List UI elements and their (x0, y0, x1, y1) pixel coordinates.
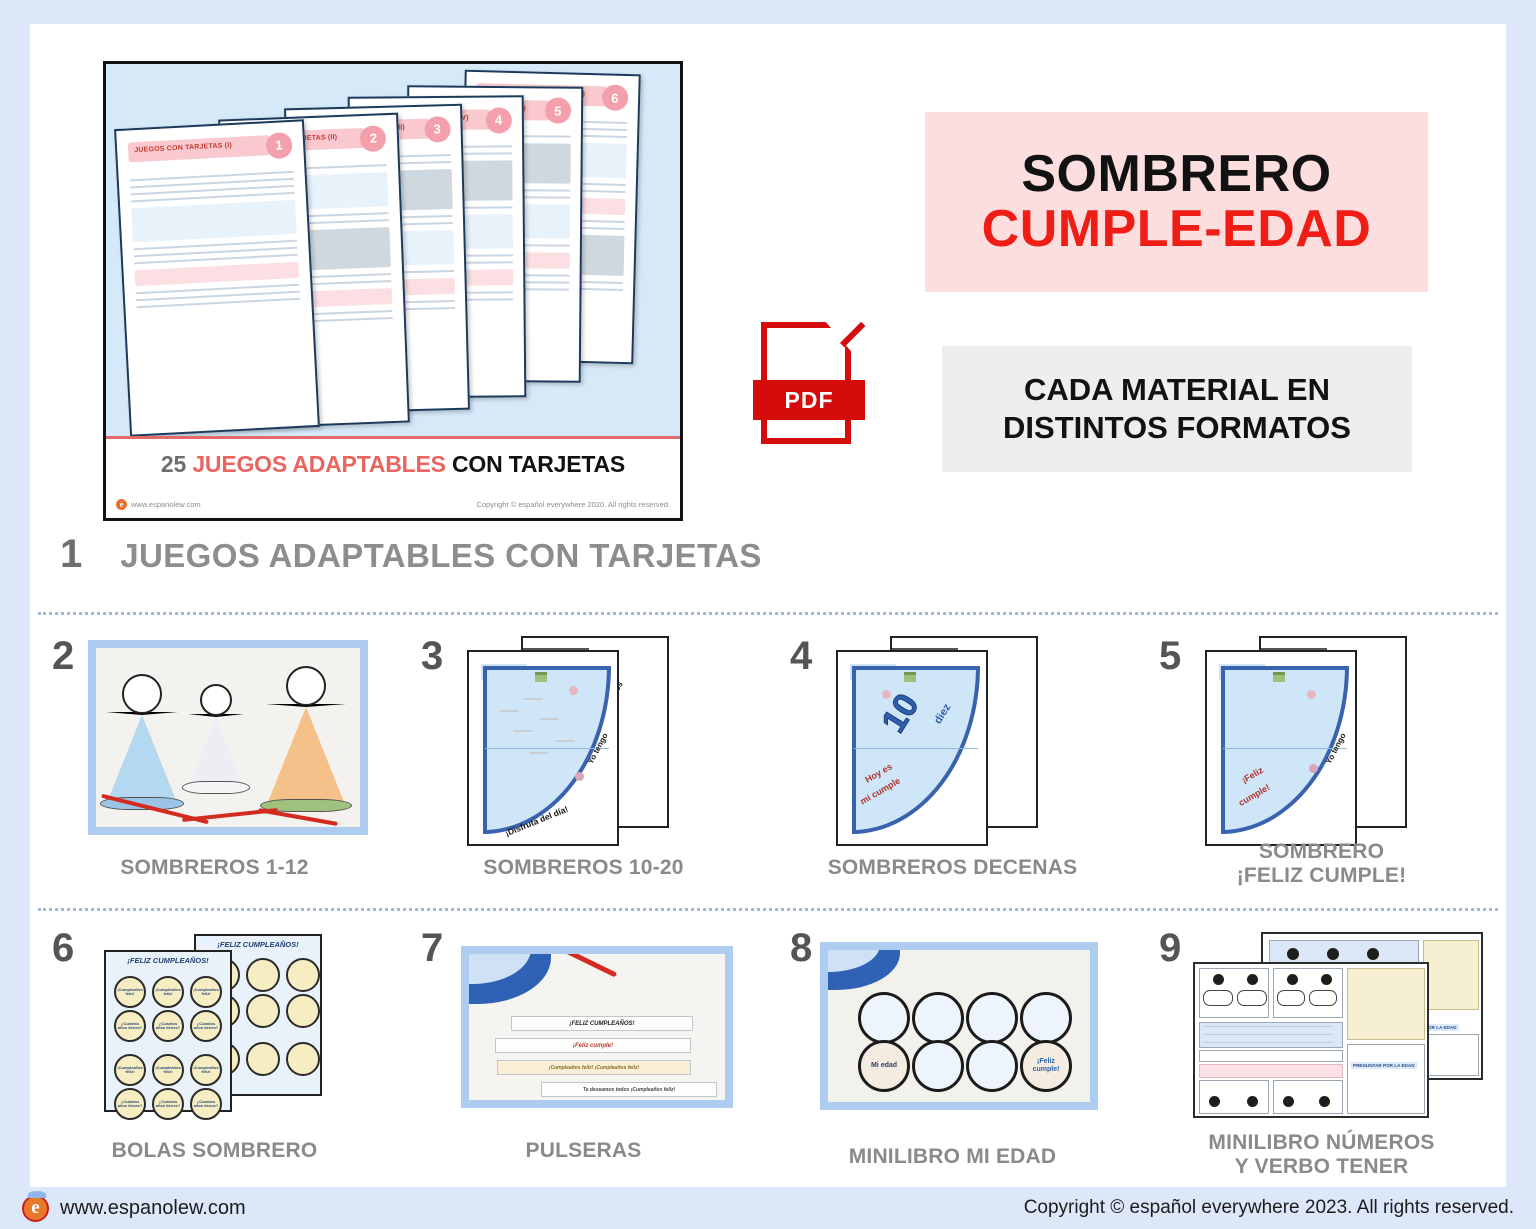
item-5-thumbnail[interactable]: Yo tengo ¡FELIZ CUMPLEAÑOS! ¡Feliz cumpl… (1199, 632, 1479, 844)
bolas-ball-f10: ¿Cuántos años tienes? (114, 1088, 146, 1120)
bolas-ball-text-f8: ¡Cumpleaños feliz! (154, 1056, 182, 1075)
fan-deco-gift-5 (1273, 672, 1285, 682)
party-hat-blue (106, 712, 178, 805)
poster-canvas: JUEGOS CON TARJETAS (VI) 6 JUEGOS CON TA… (30, 24, 1506, 1187)
minilibro-circle-6 (912, 1040, 964, 1092)
preview-footer-copyright: Copyright © español everywhere 2020. All… (476, 500, 670, 509)
bolas-ball-text-f5: ¿Cuántos años tienes? (154, 1012, 182, 1031)
ws-back-head2 (1327, 948, 1339, 960)
preview-footer: e www.espanolew.com Copyright © español … (106, 490, 680, 518)
divider-1 (38, 612, 1498, 615)
preview-title-bar: 25 JUEGOS ADAPTABLES CON TARJETAS (106, 436, 680, 490)
item-7-number: 7 (421, 926, 443, 971)
bolas-ball-f7: ¡Cumpleaños feliz! (114, 1054, 146, 1086)
fan-sheet-front-5: ¡FELIZ CUMPLEAÑOS! ¡Feliz cumple! Yo ten… (1205, 650, 1357, 846)
hat-cone-blue (106, 712, 178, 805)
ws-front-bubble4 (1309, 990, 1337, 1006)
hat-cone-orange (266, 704, 346, 807)
product-preview-frame[interactable]: JUEGOS CON TARJETAS (VI) 6 JUEGOS CON TA… (103, 61, 683, 521)
preview-sheet-badge-2: 2 (360, 125, 387, 152)
preview-title: 25 JUEGOS ADAPTABLES CON TARJETAS (161, 451, 625, 478)
fan-deco-dot-4 (882, 690, 891, 699)
minilibro-edad-photo: Mi edad ¡Feliz cumple! (820, 942, 1098, 1110)
item-6-label: BOLAS SOMBRERO (30, 1138, 399, 1163)
bolas-ball-f9: ¡Cumpleaños feliz! (190, 1054, 222, 1086)
bolas-ball-f12: ¿Cuántos años tienes? (190, 1088, 222, 1120)
ws-front-ln2 (1203, 1034, 1333, 1035)
main-title-box: SOMBRERO CUMPLE-EDAD (925, 112, 1428, 292)
bolas-ball-f11: ¿Cuántos años tienes? (152, 1088, 184, 1120)
minilibro-circle-2 (912, 992, 964, 1044)
ws-front-banner: PREGUNTAR POR LA EDAD (1351, 1062, 1417, 1069)
ws-front-head1 (1213, 974, 1224, 985)
item-3-label: SOMBREROS 10-20 (399, 855, 768, 880)
hat-speech-bubble-2 (200, 684, 232, 716)
bolas-ball-text-f10: ¿Cuántos años tienes? (116, 1090, 144, 1109)
bolas-sheets-group: ¡FELIZ CUMPLEAÑOS! ¡FELIZ (98, 934, 348, 1114)
item-3-thumbnail[interactable]: Yo tengo años ¡FELIZ CUMPLEAÑOS! ¡Disfru… (461, 632, 741, 844)
minilibro-circle-8: ¡Feliz cumple! (1020, 1040, 1072, 1092)
bolas-ball-b9 (286, 1042, 320, 1076)
preview-sheet-header-1: JUEGOS CON TARJETAS (I) (128, 135, 270, 162)
ws-front-pink (1199, 1064, 1343, 1078)
item-9-label: MINILIBRO NÚMEROS Y VERBO TENER (1137, 1131, 1506, 1179)
item-8-label: MINILIBRO MI EDAD (768, 1144, 1137, 1169)
main-title-line1: SOMBRERO (1021, 147, 1331, 202)
preview-title-count: 25 (161, 451, 186, 477)
espanolew-logo-icon: e (22, 1195, 49, 1222)
fan-deco-dot-5a (1307, 690, 1316, 699)
ws-front-head6 (1247, 1096, 1258, 1107)
ws-front-head2 (1247, 974, 1258, 985)
fan-feliz-group: Yo tengo ¡FELIZ CUMPLEAÑOS! ¡Feliz cumpl… (1199, 632, 1479, 844)
hero-section: JUEGOS CON TARJETAS (VI) 6 JUEGOS CON TA… (30, 24, 1506, 549)
hat-speech-bubble-1 (122, 674, 162, 714)
item-7-thumbnail[interactable]: ¡FELIZ CUMPLEAÑOS! ¡Feliz cumple! ¡Cumpl… (461, 946, 733, 1108)
item-3-number: 3 (421, 634, 443, 679)
fan-sheet-front-4: ¡FELIZ CUMPLEAÑOS! 10 diez Hoy es mi cum… (836, 650, 988, 846)
fan-divider-5 (1223, 748, 1347, 749)
footer-brand[interactable]: e www.espanolew.com (22, 1195, 246, 1222)
preview-sheet-body-1 (130, 170, 306, 418)
party-hat-white (188, 714, 244, 789)
item-9-thumbnail[interactable]: PREGUNTAR POR LA EDAD (1189, 932, 1489, 1122)
bolas-ball-text-f11: ¿Cuántos años tienes? (154, 1090, 182, 1109)
bolas-ball-text-f4: ¿Cuántos años tienes? (116, 1012, 144, 1031)
fan-10-20-group: Yo tengo años ¡FELIZ CUMPLEAÑOS! ¡Disfru… (461, 632, 741, 844)
hat-band-2 (182, 781, 250, 794)
hats-photo (88, 640, 368, 835)
fan-ln-3a (499, 710, 519, 712)
ws-back-head1 (1287, 948, 1299, 960)
ws-front-head7 (1283, 1096, 1294, 1107)
pdf-label: PDF (753, 380, 865, 420)
preview-title-highlight: JUEGOS ADAPTABLES (192, 451, 445, 477)
item-4-label: SOMBREROS DECENAS (768, 855, 1137, 880)
preview-sheet-badge-3: 3 (424, 116, 451, 143)
ws-front-head3 (1287, 974, 1298, 985)
fan-ln-3e (529, 752, 549, 754)
bolas-ball-f3: ¡Cumpleaños feliz! (190, 976, 222, 1008)
item-7-label: PULSERAS (399, 1138, 768, 1163)
fan-decenas-group: diez ¡FELIZ CUMPLEAÑOS! 10 diez Hoy es m… (830, 632, 1110, 844)
formats-box: CADA MATERIAL EN DISTINTOS FORMATOS (942, 346, 1412, 472)
minilibro-circle-7 (966, 1040, 1018, 1092)
item-8-number: 8 (790, 926, 812, 971)
item-9-label-line1: MINILIBRO NÚMEROS (1137, 1131, 1506, 1155)
item-4-thumbnail[interactable]: diez ¡FELIZ CUMPLEAÑOS! 10 diez Hoy es m… (830, 632, 1110, 844)
minilibro-circle-3 (966, 992, 1018, 1044)
bolas-ball-text-f12: ¿Cuántos años tienes? (192, 1090, 220, 1109)
minilibro-circle-4 (1020, 992, 1072, 1044)
footer-copyright: Copyright © español everywhere 2023. All… (1024, 1197, 1514, 1219)
ws-front-head4 (1321, 974, 1332, 985)
bolas-ball-b8 (246, 1042, 280, 1076)
item-6-cell[interactable]: 6 ¡FELIZ CUMPLEAÑOS! (30, 924, 399, 1189)
minilibro-circle-5: Mi edad (858, 1040, 910, 1092)
hat-speech-bubble-3 (286, 666, 326, 706)
page-footer: e www.espanolew.com Copyright © español … (0, 1187, 1536, 1229)
item-5-label-line1: SOMBRERO (1137, 840, 1506, 864)
preview-title-rest: CON TARJETAS (452, 451, 625, 477)
bolas-ball-text-f6: ¿Cuántos años tienes? (192, 1012, 220, 1031)
ws-front-head8 (1319, 1096, 1330, 1107)
bolas-ball-b5 (246, 994, 280, 1028)
pulseras-ribbon (563, 948, 617, 978)
formats-line1: CADA MATERIAL EN (1024, 371, 1330, 409)
minilibro-circle-1 (858, 992, 910, 1044)
ws-front-wordrow (1199, 1050, 1343, 1062)
bolas-ball-f1: ¡Cumpleaños feliz! (114, 976, 146, 1008)
item-8-thumbnail[interactable]: Mi edad ¡Feliz cumple! (820, 942, 1098, 1110)
ws-back-head3 (1367, 948, 1379, 960)
preview-sheet-badge-6: 6 (601, 84, 628, 111)
fan-divider-3 (485, 748, 609, 749)
divider-2 (38, 908, 1498, 911)
bolas-ball-f5: ¿Cuántos años tienes? (152, 1010, 184, 1042)
bolas-header-back: ¡FELIZ CUMPLEAÑOS! (196, 940, 320, 949)
item-4-cell[interactable]: 4 diez ¡FELIZ CUMPLEAÑOS! 10 diez (768, 632, 1137, 902)
pulsera-strip-3: ¡Cumpleaños feliz! ¡Cumpleaños feliz! (497, 1060, 691, 1075)
fan-ln-3d (539, 718, 559, 720)
item-5-number: 5 (1159, 634, 1181, 679)
bolas-ball-text-f9: ¡Cumpleaños feliz! (192, 1056, 220, 1075)
footer-website-url[interactable]: www.espanolew.com (60, 1197, 246, 1220)
item-5-cell[interactable]: 5 Yo tengo ¡FELIZ CUMPLEAÑOS! ¡Feliz cum (1137, 632, 1506, 902)
item-7-cell[interactable]: 7 ¡FELIZ CUMPLEAÑOS! ¡Feliz cumple! ¡Cum… (399, 924, 768, 1189)
bolas-ball-f4: ¿Cuántos años tienes? (114, 1010, 146, 1042)
item-1-label: JUEGOS ADAPTABLES CON TARJETAS (120, 537, 762, 575)
item-8-cell[interactable]: 8 Mi edad ¡Feliz cumple! (768, 924, 1137, 1189)
party-hat-orange (266, 704, 346, 807)
pulsera-strip-4: Te deseamos todos ¡Cumpleaños feliz! (541, 1082, 717, 1097)
item-2-cell[interactable]: 2 (30, 632, 399, 902)
ws-front-bubble2 (1237, 990, 1267, 1006)
preview-sheet-badge-5: 5 (545, 98, 571, 124)
fan-ln-3c (513, 730, 533, 732)
ws-front-ln3 (1203, 1042, 1333, 1043)
ws-front-table (1347, 968, 1425, 1040)
item-3-cell[interactable]: 3 Yo tengo años ¡FELIZ CUMPLEAÑOS! (399, 632, 768, 902)
bolas-sheet-front: ¡FELIZ CUMPLEAÑOS! ¡Cumpleaños feliz! ¡C… (104, 950, 232, 1112)
ws-front-cellb3 (1347, 1044, 1425, 1114)
ws-front-head5 (1209, 1096, 1220, 1107)
worksheets-group: PREGUNTAR POR LA EDAD (1189, 932, 1489, 1122)
fan-arc-4 (852, 666, 980, 834)
bolas-ball-b2 (246, 958, 280, 992)
pulsera-strip-1: ¡FELIZ CUMPLEAÑOS! (511, 1016, 693, 1031)
item-1-row[interactable]: 1 JUEGOS ADAPTABLES CON TARJETAS (60, 532, 762, 577)
bolas-ball-f2: ¡Cumpleaños feliz! (152, 976, 184, 1008)
main-title-line2: CUMPLE-EDAD (982, 202, 1372, 257)
fan-divider-4 (854, 748, 978, 749)
item-2-thumbnail[interactable] (88, 640, 368, 835)
item-2-number: 2 (52, 634, 74, 679)
fan-ln-3b (523, 698, 543, 700)
item-4-number: 4 (790, 634, 812, 679)
hat-cone-white (188, 714, 244, 789)
ws-front-bubble1 (1203, 990, 1233, 1006)
items-row-3: 6 ¡FELIZ CUMPLEAÑOS! (30, 924, 1506, 1189)
fan-deco-dot-3b (575, 772, 584, 781)
bolas-ball-f8: ¡Cumpleaños feliz! (152, 1054, 184, 1086)
fan-sheet-front-3: ¡FELIZ CUMPLEAÑOS! ¡Disfruta del día! Yo… (467, 650, 619, 846)
fan-deco-dot-5b (1309, 764, 1318, 773)
item-5-label-line2: ¡FELIZ CUMPLE! (1137, 864, 1506, 888)
pulsera-strip-2: ¡Feliz cumple! (495, 1038, 691, 1053)
formats-line2: DISTINTOS FORMATOS (1003, 409, 1351, 447)
preview-footer-url: www.espanolew.com (131, 500, 201, 509)
bolas-header-front: ¡FELIZ CUMPLEAÑOS! (106, 956, 230, 965)
fan-ln-3f (555, 740, 575, 742)
item-1-number: 1 (60, 532, 82, 577)
bolas-ball-text-f2: ¡Cumpleaños feliz! (154, 978, 182, 997)
ws-back-table (1423, 940, 1479, 1010)
poster-page: JUEGOS CON TARJETAS (VI) 6 JUEGOS CON TA… (0, 0, 1536, 1229)
ws-front-ln1 (1203, 1026, 1333, 1027)
item-6-number: 6 (52, 926, 74, 971)
preview-sheet-badge-1: 1 (265, 132, 292, 159)
bolas-ball-text-f7: ¡Cumpleaños feliz! (116, 1056, 144, 1075)
fan-deco-gift-3 (535, 672, 547, 682)
espanolew-logo-icon: e (116, 499, 127, 510)
item-9-cell[interactable]: 9 PREGUNTAR POR LA EDAD (1137, 924, 1506, 1189)
preview-sheet-badge-4: 4 (485, 107, 511, 133)
item-6-thumbnail[interactable]: ¡FELIZ CUMPLEAÑOS! ¡FELIZ (98, 934, 348, 1114)
bolas-ball-b3 (286, 958, 320, 992)
item-9-label-line2: Y VERBO TENER (1137, 1155, 1506, 1179)
bolas-ball-text-f3: ¡Cumpleaños feliz! (192, 978, 220, 997)
item-2-label: SOMBREROS 1-12 (30, 855, 399, 880)
ws-front-bubble3 (1277, 990, 1305, 1006)
pulseras-photo: ¡FELIZ CUMPLEAÑOS! ¡Feliz cumple! ¡Cumpl… (461, 946, 733, 1108)
item-9-number: 9 (1159, 926, 1181, 971)
bolas-ball-f6: ¿Cuántos años tienes? (190, 1010, 222, 1042)
fan-deco-dot-3a (569, 686, 578, 695)
worksheet-front: PREGUNTAR POR LA EDAD (1193, 962, 1429, 1118)
pdf-file-icon: PDF (753, 322, 865, 450)
items-row-2: 2 (30, 632, 1506, 902)
preview-sheet-stack: JUEGOS CON TARJETAS (VI) 6 JUEGOS CON TA… (106, 64, 680, 436)
item-5-label: SOMBRERO ¡FELIZ CUMPLE! (1137, 840, 1506, 888)
preview-sheet-1: JUEGOS CON TARJETAS (I) 1 (114, 119, 320, 436)
bolas-ball-text-f1: ¡Cumpleaños feliz! (116, 978, 144, 997)
bolas-ball-b6 (286, 994, 320, 1028)
fan-deco-gift-4 (904, 672, 916, 682)
